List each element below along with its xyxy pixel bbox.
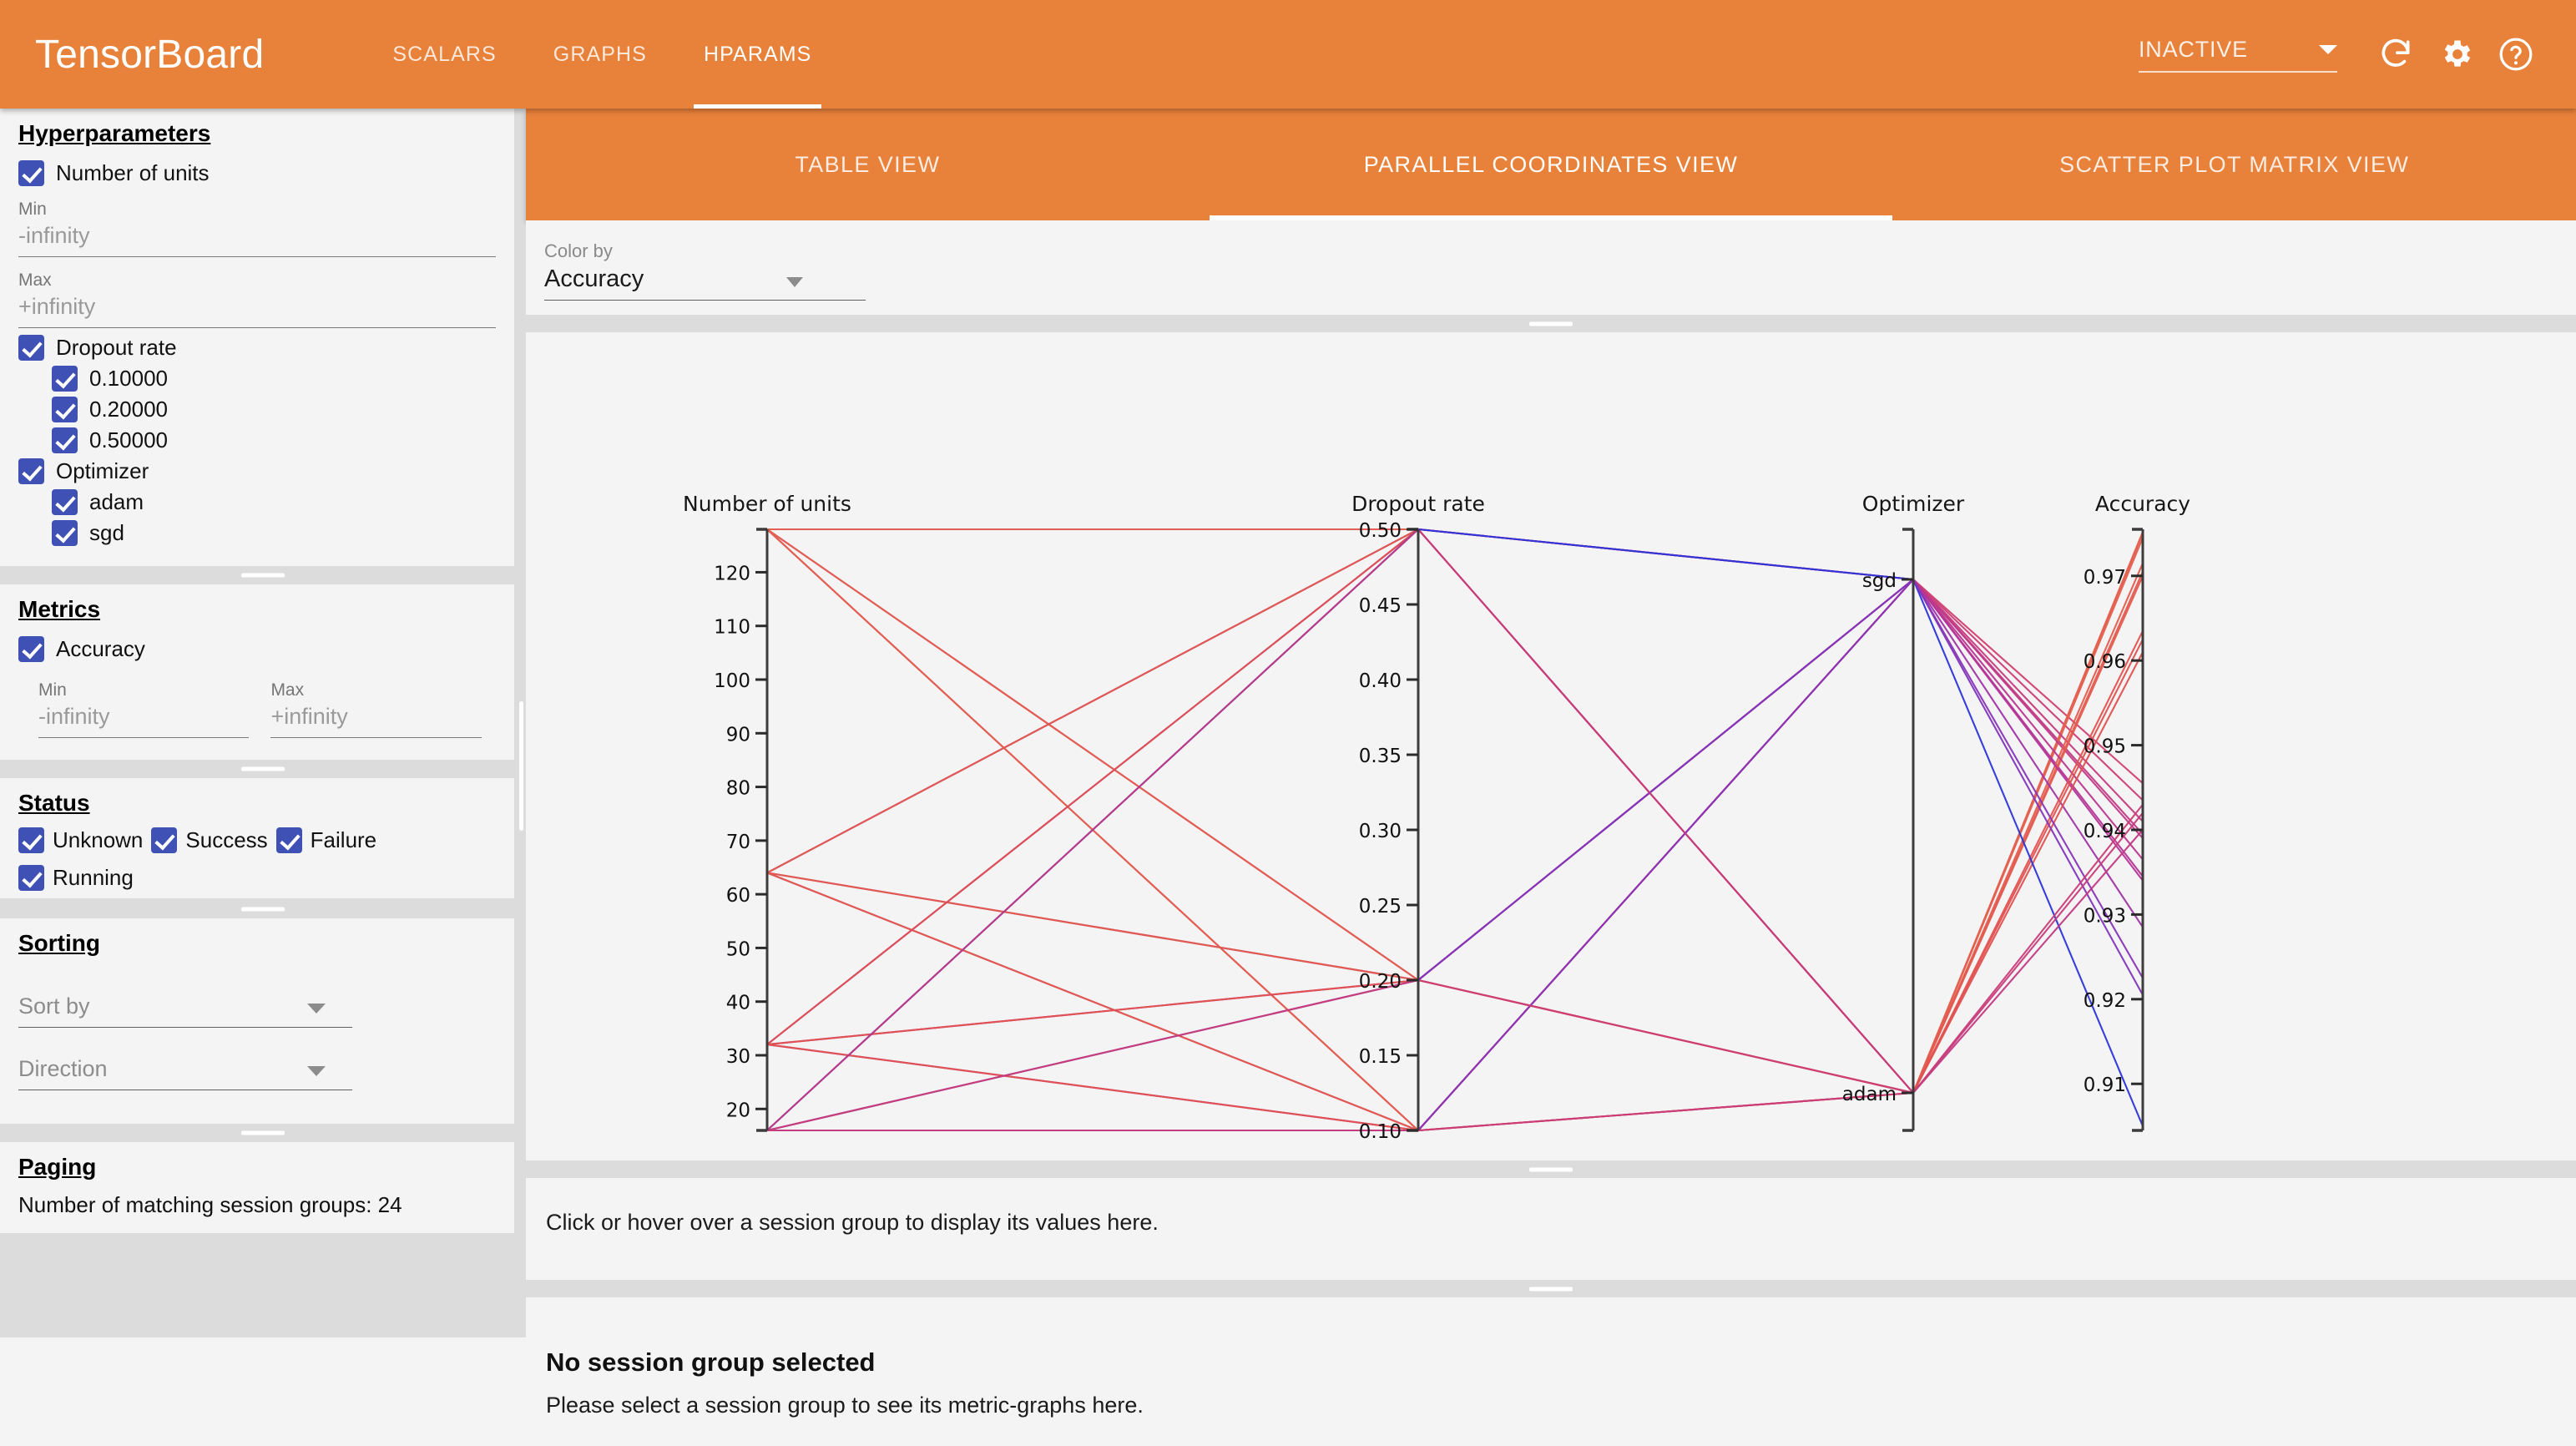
main-content: TABLE VIEW PARALLEL COORDINATES VIEW SCA… — [526, 109, 2576, 1337]
session-group-panel: No session group selected Please select … — [526, 1297, 2576, 1446]
units-min-label: Min — [18, 200, 496, 220]
chevron-down-icon — [307, 1066, 326, 1076]
chart-axis[interactable]: Number of units2030405060708090100110120 — [683, 492, 851, 1130]
chart-axis-tick-label: 90 — [726, 724, 750, 746]
units-max-field[interactable]: Max +infinity — [18, 270, 496, 328]
status-heading: Status — [18, 790, 90, 817]
chart-series-line[interactable] — [767, 579, 2143, 1044]
status-label: Success — [185, 827, 267, 853]
sidebar: Hyperparameters Number of units Min -inf… — [0, 109, 526, 1337]
nav-tab-scalars[interactable]: SCALARS — [364, 0, 524, 109]
hover-panel-resize-handle[interactable] — [526, 1160, 2576, 1178]
dropout-value-label: 0.50000 — [89, 427, 168, 453]
checkbox-dropout-0[interactable] — [52, 366, 78, 392]
status-unknown[interactable]: Unknown — [18, 827, 143, 853]
run-status-value: INACTIVE — [2139, 37, 2248, 63]
dropout-value-2[interactable]: 0.50000 — [52, 427, 496, 453]
session-panel-subtitle: Please select a session group to see its… — [546, 1393, 2556, 1418]
chart-axis-tick-label: 0.95 — [2084, 736, 2126, 758]
color-by-select[interactable]: Color by Accuracy — [544, 240, 866, 301]
sorting-heading: Sorting — [18, 930, 100, 957]
help-icon[interactable] — [2486, 24, 2546, 84]
tab-table-view[interactable]: TABLE VIEW — [526, 109, 1210, 220]
chart-axis-tick-label: 0.25 — [1359, 896, 1402, 918]
chart-axis-tick-label: 0.10 — [1359, 1121, 1402, 1143]
hparam-dropout-rate[interactable]: Dropout rate — [18, 335, 496, 361]
chevron-down-icon — [786, 277, 803, 287]
units-min-input[interactable]: -infinity — [18, 223, 496, 257]
hparam-label: Dropout rate — [56, 335, 177, 361]
chart-axis-tick-label: 0.35 — [1359, 746, 1402, 767]
hover-hint-text: Click or hover over a session group to d… — [546, 1210, 2556, 1236]
parallel-coordinates-chart[interactable]: Number of units2030405060708090100110120… — [526, 332, 2576, 1160]
checkbox-number-of-units[interactable] — [18, 160, 44, 186]
chart-axis-tick-label: 30 — [726, 1046, 750, 1068]
units-max-input[interactable]: +infinity — [18, 294, 496, 328]
checkbox-dropout-rate[interactable] — [18, 335, 44, 361]
sidebar-scrollbar-thumb[interactable] — [519, 701, 523, 831]
chevron-down-icon — [307, 1004, 326, 1014]
checkbox-status-failure[interactable] — [276, 827, 302, 853]
session-panel-title: No session group selected — [546, 1347, 2556, 1378]
metrics-card: Metrics Accuracy Min -infinity Max +infi… — [0, 584, 514, 760]
parallel-coordinates-svg[interactable]: Number of units2030405060708090100110120… — [526, 332, 2576, 1160]
color-by-panel: Color by Accuracy — [526, 220, 2576, 315]
chart-axis-tick-label: 0.91 — [2084, 1074, 2126, 1096]
checkbox-optimizer-sgd[interactable] — [52, 520, 78, 546]
chart-axis-tick-label: 20 — [726, 1100, 750, 1121]
accuracy-min-label: Min — [38, 680, 249, 700]
sorting-card: Sorting Sort by Direction — [0, 918, 514, 1124]
chart-axis-tick-label: 0.45 — [1359, 595, 1402, 617]
chart-axis-title: Accuracy — [2095, 492, 2190, 516]
hparam-label: Number of units — [56, 160, 210, 186]
panel-resize-handle[interactable] — [0, 1124, 526, 1142]
metric-accuracy[interactable]: Accuracy — [18, 636, 496, 662]
tab-parallel-coordinates-view[interactable]: PARALLEL COORDINATES VIEW — [1210, 109, 1893, 220]
chart-axis-title: Dropout rate — [1351, 492, 1485, 516]
status-failure[interactable]: Failure — [276, 827, 376, 853]
chart-axis-tick-label: 50 — [726, 938, 750, 960]
paging-card: Paging Number of matching session groups… — [0, 1142, 514, 1233]
main-nav-tabs: SCALARS GRAPHS HPARAMS — [364, 0, 840, 109]
chart-axis-title: Optimizer — [1862, 492, 1965, 516]
chart-axis-tick-label: 60 — [726, 885, 750, 907]
chart-axis-tick-label: 0.97 — [2084, 567, 2126, 589]
refresh-icon[interactable] — [2366, 24, 2426, 84]
chart-resize-handle-top[interactable] — [526, 315, 2576, 332]
session-panel-resize-handle[interactable] — [526, 1280, 2576, 1297]
chart-axis-tick-label: sgd — [1862, 570, 1897, 592]
hparam-optimizer[interactable]: Optimizer — [18, 458, 496, 484]
status-running[interactable]: Running — [18, 865, 134, 891]
checkbox-optimizer[interactable] — [18, 458, 44, 484]
chart-axis-tick-label: 0.40 — [1359, 670, 1402, 692]
chart-axis-tick-label: 120 — [714, 563, 750, 584]
chart-axis-tick-label: 70 — [726, 832, 750, 853]
chart-axis-tick-label: 0.94 — [2084, 821, 2126, 842]
chart-axis-tick-label: 100 — [714, 670, 750, 692]
direction-value: Direction — [18, 1056, 108, 1081]
color-by-label: Color by — [544, 240, 866, 262]
chart-axis-tick-label: 0.20 — [1359, 971, 1402, 993]
accuracy-min-input[interactable]: -infinity — [38, 704, 249, 738]
metrics-heading: Metrics — [18, 596, 100, 623]
view-tab-bar: TABLE VIEW PARALLEL COORDINATES VIEW SCA… — [526, 109, 2576, 220]
hyperparameters-card: Hyperparameters Number of units Min -inf… — [0, 109, 514, 566]
chart-axis-tick-label: 110 — [714, 617, 750, 639]
panel-resize-handle[interactable] — [0, 900, 526, 918]
hparam-number-of-units[interactable]: Number of units — [18, 160, 496, 186]
chart-axis-tick-label: 0.15 — [1359, 1046, 1402, 1068]
chart-axis[interactable]: Dropout rate0.100.150.200.250.300.350.40… — [1351, 492, 1485, 1143]
hyperparameters-heading: Hyperparameters — [18, 120, 210, 147]
units-max-label: Max — [18, 270, 496, 291]
units-min-field[interactable]: Min -infinity — [18, 200, 496, 257]
accuracy-max-input[interactable]: +infinity — [270, 704, 481, 738]
dropout-value-label: 0.10000 — [89, 366, 168, 392]
status-card: Status Unknown Success Failure Running — [0, 778, 514, 898]
chart-lines — [767, 529, 2143, 1130]
app-bar: TensorBoard SCALARS GRAPHS HPARAMS INACT… — [0, 0, 2576, 109]
chart-axis-tick-label: 40 — [726, 993, 750, 1014]
nav-tab-graphs[interactable]: GRAPHS — [525, 0, 675, 109]
panel-resize-handle[interactable] — [0, 760, 526, 778]
checkbox-dropout-1[interactable] — [52, 397, 78, 422]
tab-scatter-plot-matrix-view[interactable]: SCATTER PLOT MATRIX VIEW — [1892, 109, 2576, 220]
optimizer-value-1[interactable]: sgd — [52, 520, 496, 546]
dropout-value-label: 0.20000 — [89, 397, 168, 422]
hparam-label: Optimizer — [56, 458, 149, 484]
sort-by-select[interactable]: Sort by — [18, 993, 352, 1028]
run-status-select[interactable]: INACTIVE — [2139, 37, 2337, 73]
chevron-down-icon — [2319, 45, 2337, 54]
chart-series-line[interactable] — [767, 805, 2143, 1130]
accuracy-max-field[interactable]: Max +infinity — [270, 680, 481, 738]
paging-heading: Paging — [18, 1154, 96, 1181]
status-label: Running — [53, 865, 134, 891]
app-title: TensorBoard — [35, 32, 264, 78]
chart-axis-tick-label: 0.92 — [2084, 990, 2126, 1012]
sort-by-value: Sort by — [18, 993, 90, 1019]
chart-series-line[interactable] — [767, 640, 2143, 1130]
dropout-value-1[interactable]: 0.20000 — [52, 397, 496, 422]
checkbox-status-running[interactable] — [18, 865, 44, 891]
chart-axis-tick-label: adam — [1842, 1084, 1897, 1105]
matching-session-groups-count: Number of matching session groups: 24 — [18, 1192, 496, 1218]
metric-label: Accuracy — [56, 636, 145, 662]
chart-axis-tick-label: 80 — [726, 778, 750, 800]
color-by-value: Accuracy — [544, 265, 644, 292]
status-label: Unknown — [53, 827, 143, 853]
chart-series-line[interactable] — [767, 631, 2143, 1093]
optimizer-value-label: sgd — [89, 520, 124, 546]
chart-axis-tick-label: 0.96 — [2084, 651, 2126, 673]
chart-series-line[interactable] — [767, 529, 2143, 980]
nav-tab-hparams[interactable]: HPARAMS — [675, 0, 840, 109]
optimizer-value-0[interactable]: adam — [52, 489, 496, 515]
accuracy-max-label: Max — [270, 680, 481, 700]
checkbox-status-unknown[interactable] — [18, 827, 44, 853]
checkbox-optimizer-adam[interactable] — [52, 489, 78, 515]
chart-series-line[interactable] — [767, 564, 2143, 1093]
dropout-value-0[interactable]: 0.10000 — [52, 366, 496, 392]
chart-series-line[interactable] — [767, 529, 2143, 877]
chart-axis-tick-label: 0.93 — [2084, 905, 2126, 927]
status-checkbox-row: Unknown Success Failure Running — [18, 825, 496, 893]
chart-series-line[interactable] — [767, 529, 2143, 834]
accuracy-min-field[interactable]: Min -infinity — [38, 680, 249, 738]
app-bar-actions: INACTIVE — [2139, 24, 2546, 84]
optimizer-value-label: adam — [89, 489, 144, 515]
checkbox-status-success[interactable] — [151, 827, 177, 853]
panel-resize-handle[interactable] — [0, 566, 526, 584]
checkbox-accuracy[interactable] — [18, 636, 44, 662]
chart-series-line[interactable] — [767, 579, 2143, 980]
direction-select[interactable]: Direction — [18, 1056, 352, 1090]
checkbox-dropout-2[interactable] — [52, 427, 78, 453]
status-label: Failure — [311, 827, 376, 853]
gear-icon[interactable] — [2426, 24, 2486, 84]
chart-axis-title: Number of units — [683, 492, 851, 516]
hover-values-panel: Click or hover over a session group to d… — [526, 1178, 2576, 1280]
chart-axis-tick-label: 0.30 — [1359, 821, 1402, 842]
status-success[interactable]: Success — [151, 827, 267, 853]
chart-axis-tick-label: 0.50 — [1359, 520, 1402, 542]
